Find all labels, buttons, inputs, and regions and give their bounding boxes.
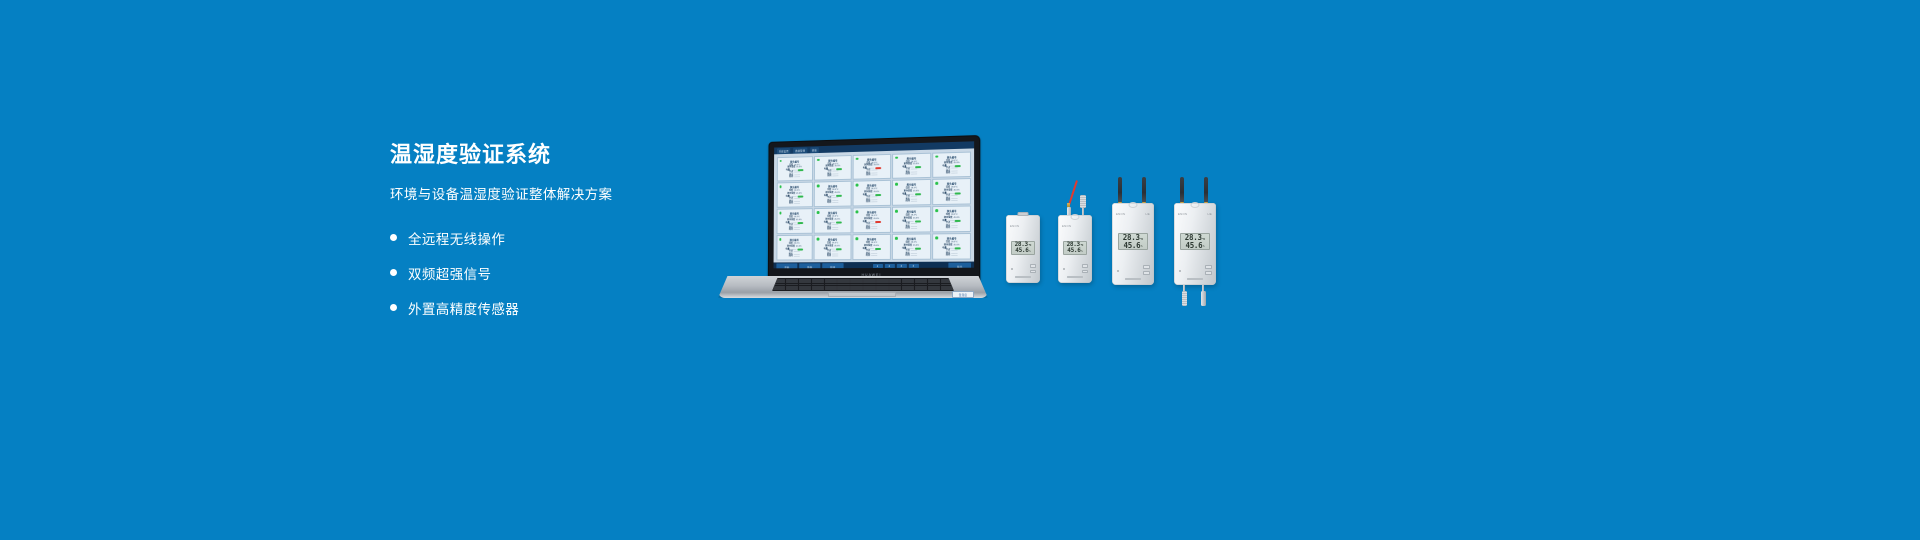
sensor-card[interactable]: 探头编号温度28.3℃相对湿度45.6%电量———节点———状态———时间——— bbox=[932, 178, 971, 205]
field-label: 时间 bbox=[866, 228, 870, 231]
model-label: HE bbox=[1146, 212, 1151, 216]
laptop-trackpad[interactable] bbox=[828, 292, 896, 297]
sensor-card-field: 时间——— bbox=[780, 203, 810, 206]
sensor-card[interactable]: 探头编号温度28.3℃相对湿度45.6%电量———节点———状态———时间——— bbox=[814, 155, 851, 181]
field-label: 时间 bbox=[789, 203, 793, 206]
field-label: 时间 bbox=[946, 200, 950, 203]
sensor-status-led-icon bbox=[895, 210, 898, 213]
device-button-up[interactable] bbox=[1082, 264, 1088, 267]
sensor-status-led-icon bbox=[779, 212, 781, 215]
device-wireless-logger-1: ENON HE 28.3 ℃ 45.6 % bbox=[1112, 203, 1154, 285]
sensor-status-led-icon bbox=[779, 186, 781, 189]
keyboard-key[interactable] bbox=[941, 288, 953, 290]
device-nameplate bbox=[1187, 278, 1203, 280]
field-label: 时间 bbox=[827, 176, 831, 179]
lcd-display: 28.3 ℃ 45.6 % bbox=[1011, 241, 1035, 255]
field-value: ——— bbox=[951, 173, 957, 176]
device-nameplate bbox=[1067, 276, 1083, 278]
sensor-card-field: 时间——— bbox=[896, 173, 928, 176]
device-button-up[interactable] bbox=[1143, 265, 1150, 269]
laptop-screen: 系统设置 数据管理 帮助 探头编号温度28.3℃相对湿度45.6%电量———节点… bbox=[774, 141, 975, 268]
brand-label: ENON bbox=[1116, 212, 1125, 216]
keyboard-key[interactable] bbox=[902, 288, 914, 290]
sensor-card-title: 探头编号 bbox=[779, 238, 809, 242]
device-nameplate bbox=[1015, 276, 1031, 278]
sensor-card[interactable]: 探头编号温度28.3℃相对湿度45.6%电量———节点———状态———时间——— bbox=[853, 207, 891, 233]
device-hanger-hole bbox=[1129, 202, 1138, 208]
sensor-status-led-icon bbox=[895, 237, 898, 240]
device-button-down[interactable] bbox=[1205, 271, 1212, 275]
field-value: ——— bbox=[794, 256, 800, 259]
field-label: 时间 bbox=[866, 202, 870, 205]
field-label: 时间 bbox=[946, 173, 950, 176]
sensor-card-field: 时间——— bbox=[856, 255, 887, 258]
sensor-status-led-icon bbox=[817, 211, 820, 214]
field-value: ——— bbox=[911, 228, 917, 231]
sensor-card-title: 探头编号 bbox=[936, 209, 968, 214]
sensor-card-field: 时间——— bbox=[779, 256, 809, 259]
sensor-card[interactable]: 探头编号温度28.3℃相对湿度45.6%电量———节点———状态———时间——— bbox=[776, 235, 813, 260]
humidity-unit: % bbox=[1203, 245, 1205, 248]
field-value: ——— bbox=[832, 229, 838, 232]
sensor-card-title: 探头编号 bbox=[936, 236, 968, 240]
sensor-card-title: 探头编号 bbox=[856, 237, 887, 241]
antenna-left bbox=[1180, 177, 1184, 203]
feature-label: 双频超强信号 bbox=[408, 263, 491, 283]
sensor-card-field: 时间——— bbox=[896, 228, 928, 231]
field-value: ——— bbox=[871, 255, 877, 258]
lcd-display: 28.3 ℃ 45.6 % bbox=[1063, 241, 1087, 255]
sensor-status-led-icon bbox=[856, 211, 859, 214]
device-keypad[interactable] bbox=[1030, 264, 1036, 273]
field-label: 时间 bbox=[789, 177, 793, 180]
keyboard-key[interactable] bbox=[799, 288, 811, 290]
sensor-status-led-icon bbox=[779, 238, 781, 241]
humidity-value: 45.6 bbox=[1015, 248, 1028, 254]
field-value: ——— bbox=[794, 177, 800, 180]
bullet-dot-icon bbox=[390, 304, 397, 311]
laptop-product-image: 系统设置 数据管理 帮助 探头编号温度28.3℃相对湿度45.6%电量———节点… bbox=[718, 138, 988, 298]
sensor-card[interactable]: 探头编号温度28.3℃相对湿度45.6%电量———节点———状态———时间——— bbox=[776, 182, 813, 208]
antenna-right bbox=[1204, 177, 1208, 203]
device-compact-logger-2: ENON 28.3 ℃ 45.6 % bbox=[1058, 215, 1092, 283]
humidity-reading: 45.6 % bbox=[1015, 248, 1030, 254]
bullet-dot-icon bbox=[390, 234, 397, 241]
status-led-icon bbox=[1117, 270, 1119, 272]
lcd-display: 28.3 ℃ 45.6 % bbox=[1180, 233, 1210, 250]
keyboard-key[interactable] bbox=[863, 288, 875, 290]
field-value: ——— bbox=[911, 174, 917, 177]
humidity-reading: 45.6 % bbox=[1123, 242, 1142, 250]
device-compact-logger-1: ENON 28.3 ℃ 45.6 % bbox=[1006, 215, 1040, 283]
sensor-card[interactable]: 探头编号温度28.3℃相对湿度45.6%电量———节点———状态———时间——— bbox=[814, 181, 851, 207]
keyboard-key[interactable] bbox=[773, 288, 785, 290]
field-label: 时间 bbox=[827, 202, 831, 205]
device-keypad[interactable] bbox=[1143, 265, 1150, 275]
field-label: 时间 bbox=[866, 255, 870, 258]
brand-label: ENON bbox=[1178, 212, 1187, 216]
sensor-card-title: 探头编号 bbox=[818, 211, 849, 215]
keyboard-key[interactable] bbox=[876, 288, 888, 290]
field-value: ——— bbox=[871, 175, 877, 178]
sensor-card-field: 时间——— bbox=[936, 172, 968, 175]
feature-label: 全远程无线操作 bbox=[408, 228, 505, 248]
field-label: 时间 bbox=[827, 256, 831, 259]
sensor-status-led-icon bbox=[935, 237, 938, 240]
page-subtitle: 环境与设备温湿度验证整体解决方案 bbox=[390, 185, 750, 205]
keyboard-key[interactable] bbox=[850, 288, 862, 290]
list-item: 全远程无线操作 bbox=[390, 225, 750, 250]
sensor-card-field: 时间——— bbox=[936, 227, 968, 230]
device-housing: ENON 28.3 ℃ 45.6 % bbox=[1006, 215, 1040, 283]
sensor-status-led-icon bbox=[895, 156, 898, 159]
field-value: ——— bbox=[871, 201, 877, 204]
keyboard-key[interactable] bbox=[812, 288, 824, 290]
sensor-card-field: 时间——— bbox=[780, 176, 810, 179]
keyboard-key[interactable] bbox=[928, 288, 940, 290]
temperature-unit: ℃ bbox=[1140, 238, 1143, 241]
sensor-card-title: 探头编号 bbox=[896, 210, 928, 215]
humidity-unit: % bbox=[1081, 250, 1083, 253]
sensor-card-grid: 探头编号温度28.3℃相对湿度45.6%电量———节点———状态———时间———… bbox=[774, 148, 975, 262]
device-keypad[interactable] bbox=[1205, 265, 1212, 275]
field-label: 时间 bbox=[789, 256, 793, 259]
feature-list: 全远程无线操作 双频超强信号 外置高精度传感器 bbox=[390, 225, 750, 320]
keyboard-row bbox=[773, 288, 953, 290]
list-item: 外置高精度传感器 bbox=[390, 295, 750, 320]
sensor-status-led-icon bbox=[935, 182, 938, 185]
sensor-card[interactable]: 探头编号温度28.3℃相对湿度45.6%电量———节点———状态———时间——— bbox=[853, 153, 891, 179]
sensor-card[interactable]: 探头编号温度28.3℃相对湿度45.6%电量———节点———状态———时间——— bbox=[932, 151, 971, 178]
device-wireless-logger-2: ENON HE 28.3 ℃ 45.6 % bbox=[1174, 203, 1216, 285]
sensor-card-field: 时间——— bbox=[896, 201, 928, 204]
bullet-dot-icon bbox=[390, 269, 397, 276]
sensor-card-title: 探头编号 bbox=[896, 237, 928, 241]
field-label: 时间 bbox=[946, 255, 950, 258]
brand-label: HUAWEI bbox=[862, 272, 882, 276]
sensor-card[interactable]: 探头编号温度28.3℃相对湿度45.6%电量———节点———状态———时间——— bbox=[892, 207, 931, 233]
sensor-status-led-icon bbox=[935, 155, 938, 158]
sensor-card[interactable]: 探头编号温度28.3℃相对湿度45.6%电量———节点———状态———时间——— bbox=[814, 235, 851, 261]
laptop-sticker: 温湿度 bbox=[952, 291, 974, 298]
device-nameplate bbox=[1125, 278, 1141, 280]
device-button-down[interactable] bbox=[1082, 270, 1088, 273]
sensor-status-led-icon bbox=[895, 183, 898, 186]
sensor-status-led-icon bbox=[856, 184, 859, 187]
humidity-reading: 45.6 % bbox=[1067, 248, 1082, 254]
device-button-up[interactable] bbox=[1205, 265, 1212, 269]
status-led-icon bbox=[1063, 268, 1065, 270]
sensor-card[interactable]: 探头编号温度28.3℃相对湿度45.6%电量———节点———状态———时间——— bbox=[776, 156, 813, 182]
sensor-card-field: 时间——— bbox=[817, 255, 848, 258]
device-hanger-hole bbox=[1071, 214, 1080, 220]
field-label: 时间 bbox=[906, 228, 910, 231]
sensor-card-field: 时间——— bbox=[817, 229, 848, 232]
model-label: HE bbox=[1208, 212, 1213, 216]
sensor-card-field: 时间——— bbox=[856, 201, 887, 204]
device-keypad[interactable] bbox=[1082, 264, 1088, 273]
field-label: 时间 bbox=[906, 201, 910, 204]
page-title: 温湿度验证系统 bbox=[390, 140, 750, 170]
sensor-status-led-icon bbox=[856, 238, 859, 241]
antenna-left bbox=[1118, 177, 1122, 203]
field-value: ——— bbox=[951, 227, 957, 230]
field-label: 时间 bbox=[946, 228, 950, 231]
field-value: ——— bbox=[832, 176, 838, 179]
sensor-status-led-icon bbox=[856, 157, 859, 160]
sensor-status-led-icon bbox=[817, 158, 820, 161]
feature-label: 外置高精度传感器 bbox=[408, 298, 519, 318]
device-housing: ENON HE 28.3 ℃ 45.6 % bbox=[1174, 203, 1216, 285]
keyboard-key[interactable] bbox=[786, 288, 798, 290]
humidity-reading: 45.6 % bbox=[1185, 242, 1204, 250]
probe-cable bbox=[1068, 180, 1078, 205]
keyboard-key[interactable] bbox=[915, 288, 927, 290]
sensor-card-field: 时间——— bbox=[856, 228, 887, 231]
menu-item-help[interactable]: 帮助 bbox=[810, 147, 819, 153]
temperature-unit: ℃ bbox=[1202, 238, 1205, 241]
keyboard-key[interactable] bbox=[889, 288, 901, 290]
device-hanger-hole bbox=[1191, 202, 1200, 208]
sensor-card[interactable]: 探头编号温度28.3℃相对湿度45.6%电量———节点———状态———时间——— bbox=[892, 152, 931, 179]
sensor-status-led-icon bbox=[817, 238, 820, 241]
sensor-card[interactable]: 探头编号温度28.3℃相对湿度45.6%电量———节点———状态———时间——— bbox=[853, 234, 891, 260]
menu-item-data-management[interactable]: 数据管理 bbox=[793, 147, 807, 153]
status-led-icon bbox=[1011, 268, 1013, 270]
device-housing: ENON HE 28.3 ℃ 45.6 % bbox=[1112, 203, 1154, 285]
field-value: ——— bbox=[794, 203, 800, 206]
sensor-card-title: 探头编号 bbox=[817, 238, 848, 242]
device-lineup: ENON 28.3 ℃ 45.6 % bbox=[1000, 175, 1240, 325]
list-item: 双频超强信号 bbox=[390, 260, 750, 285]
laptop-keyboard[interactable] bbox=[772, 278, 954, 291]
keyboard-key[interactable] bbox=[825, 288, 837, 290]
sensor-card[interactable]: 探头编号温度28.3℃相对湿度45.6%电量———节点———状态———时间——— bbox=[932, 206, 971, 232]
probe-sensor-left bbox=[1182, 291, 1188, 306]
field-value: ——— bbox=[871, 228, 877, 231]
field-label: 时间 bbox=[866, 175, 870, 178]
sensor-card-field: 时间——— bbox=[779, 229, 809, 232]
device-button-down[interactable] bbox=[1030, 270, 1036, 273]
sensor-card[interactable]: 探头编号温度28.3℃相对湿度45.6%电量———节点———状态———时间——— bbox=[853, 180, 891, 206]
field-value: ——— bbox=[911, 255, 917, 258]
field-value: ——— bbox=[794, 229, 800, 232]
field-label: 时间 bbox=[827, 229, 831, 232]
sensor-card[interactable]: 探头编号温度28.3℃相对湿度45.6%电量———节点———状态———时间——— bbox=[892, 234, 931, 260]
sensor-card[interactable]: 探头编号温度28.3℃相对湿度45.6%电量———节点———状态———时间——— bbox=[814, 208, 851, 234]
sensor-card[interactable]: 探头编号温度28.3℃相对湿度45.6%电量———节点———状态———时间——— bbox=[932, 233, 971, 259]
sensor-status-led-icon bbox=[935, 209, 938, 212]
sensor-card[interactable]: 探头编号温度28.3℃相对湿度45.6%电量———节点———状态———时间——— bbox=[892, 179, 931, 205]
sticker-label: 温湿度 bbox=[959, 293, 967, 297]
probe-sensor-right bbox=[1201, 291, 1207, 306]
sensor-card-field: 时间——— bbox=[936, 200, 968, 203]
field-value: ——— bbox=[832, 256, 838, 259]
validation-software-window: 系统设置 数据管理 帮助 探头编号温度28.3℃相对湿度45.6%电量———节点… bbox=[774, 141, 975, 268]
antenna-right bbox=[1142, 177, 1146, 203]
hero-copy: 温湿度验证系统 环境与设备温湿度验证整体解决方案 全远程无线操作 双频超强信号 … bbox=[390, 140, 750, 320]
laptop-base: 温湿度 bbox=[718, 276, 988, 298]
keyboard-key[interactable] bbox=[837, 288, 849, 290]
sensor-card-field: 时间——— bbox=[896, 255, 928, 258]
field-value: ——— bbox=[951, 200, 957, 203]
device-housing: ENON 28.3 ℃ 45.6 % bbox=[1058, 215, 1092, 283]
field-value: ——— bbox=[951, 255, 957, 258]
field-value: ——— bbox=[832, 202, 838, 205]
field-label: 时间 bbox=[906, 174, 910, 177]
sensor-card-field: 时间——— bbox=[856, 174, 887, 177]
sensor-card[interactable]: 探头编号温度28.3℃相对湿度45.6%电量———节点———状态———时间——— bbox=[776, 209, 813, 235]
sensor-card-field: 时间——— bbox=[818, 202, 849, 205]
sensor-card-field: 时间——— bbox=[818, 175, 848, 178]
humidity-value: 45.6 bbox=[1067, 248, 1080, 254]
humidity-value: 45.6 bbox=[1185, 242, 1202, 250]
laptop-lid: 系统设置 数据管理 帮助 探头编号温度28.3℃相对湿度45.6%电量———节点… bbox=[768, 135, 980, 282]
lcd-display: 28.3 ℃ 45.6 % bbox=[1118, 233, 1148, 250]
device-clip bbox=[1018, 212, 1029, 216]
sensor-card-field: 时间——— bbox=[936, 255, 968, 258]
device-button-down[interactable] bbox=[1143, 271, 1150, 275]
status-led-icon bbox=[1179, 270, 1181, 272]
humidity-unit: % bbox=[1141, 245, 1143, 248]
field-value: ——— bbox=[911, 201, 917, 204]
brand-label: ENON bbox=[1010, 224, 1019, 228]
sensor-card-title: 探头编号 bbox=[779, 212, 809, 216]
brand-label: ENON bbox=[1062, 224, 1071, 228]
device-button-up[interactable] bbox=[1030, 264, 1036, 267]
humidity-unit: % bbox=[1029, 250, 1031, 253]
humidity-value: 45.6 bbox=[1123, 242, 1140, 250]
sensor-card-title: 探头编号 bbox=[856, 210, 887, 214]
field-label: 时间 bbox=[789, 229, 793, 232]
field-label: 时间 bbox=[906, 255, 910, 258]
menu-item-system-settings[interactable]: 系统设置 bbox=[777, 148, 791, 154]
